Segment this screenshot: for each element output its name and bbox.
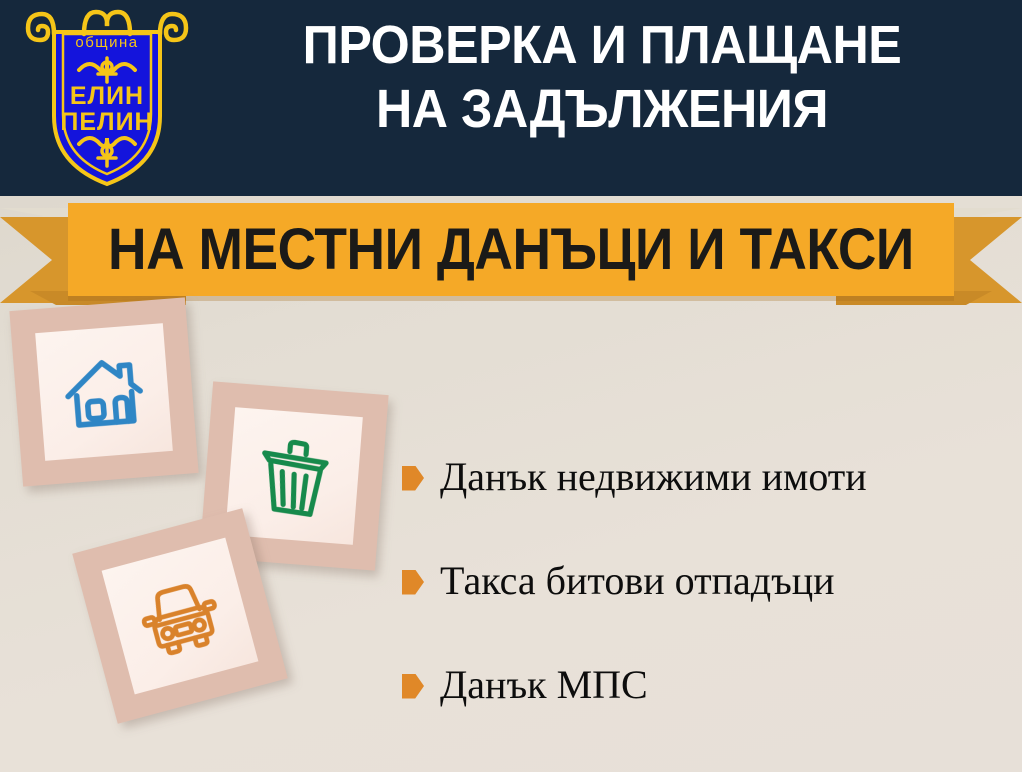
list-item: Такса битови отпадъци	[402, 529, 1012, 633]
svg-text:ЕЛИН: ЕЛИН	[70, 82, 144, 110]
arrow-bullet-icon	[402, 466, 424, 491]
subtitle-ribbon: НА МЕСТНИ ДАНЪЦИ И ТАКСИ	[0, 196, 1022, 308]
trash-bin-icon	[248, 430, 340, 522]
header-band: община ЕЛИН ПЕЛИН ПРОВЕРКА И ПЛАЩАНЕ НА …	[0, 0, 1022, 196]
ribbon-center-panel: НА МЕСТНИ ДАНЪЦИ И ТАКСИ	[68, 203, 954, 296]
list-item-label: Данък недвижими имоти	[440, 457, 867, 497]
list-item: Данък МПС	[402, 633, 1012, 737]
page-title-line-1: ПРОВЕРКА И ПЛАЩАНЕ	[224, 14, 979, 78]
list-item-label: Данък МПС	[440, 665, 648, 705]
poster-canvas: община ЕЛИН ПЕЛИН ПРОВЕРКА И ПЛАЩАНЕ НА …	[0, 0, 1022, 772]
municipality-crest: община ЕЛИН ПЕЛИН	[24, 4, 190, 190]
house-icon	[58, 346, 150, 438]
svg-text:община: община	[75, 34, 138, 51]
car-front-icon	[127, 563, 232, 668]
ribbon-subtitle: НА МЕСТНИ ДАНЪЦИ И ТАКСИ	[108, 216, 914, 283]
page-title-line-2: НА ЗАДЪЛЖЕНИЯ	[224, 78, 979, 142]
arrow-bullet-icon	[402, 674, 424, 699]
stamp-inner-panel	[35, 323, 173, 461]
page-title: ПРОВЕРКА И ПЛАЩАНЕ НА ЗАДЪЛЖЕНИЯ	[224, 14, 979, 141]
svg-text:ПЕЛИН: ПЕЛИН	[60, 108, 153, 136]
stamp-group	[0, 300, 420, 772]
stamp-card-property-tax	[9, 297, 198, 486]
arrow-bullet-icon	[402, 570, 424, 595]
list-item-label: Такса битови отпадъци	[440, 561, 835, 601]
list-item: Данък недвижими имоти	[402, 425, 1012, 529]
obligation-type-list: Данък недвижими имоти Такса битови отпад…	[402, 425, 1012, 737]
